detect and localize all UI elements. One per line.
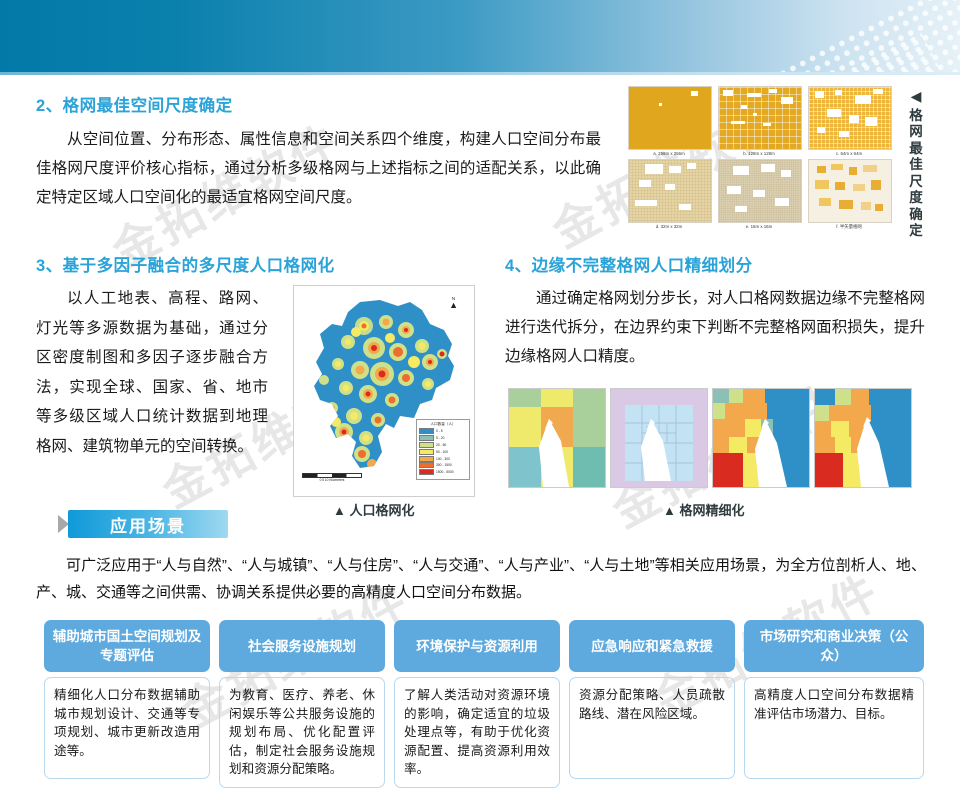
legend-label: 50 - 100 — [436, 450, 448, 454]
application-card[interactable]: 社会服务设施规划 为教育、医疗、养老、休闲娱乐等公共服务设施的规划布局、优化配置… — [219, 620, 385, 788]
legend-swatch — [419, 456, 434, 462]
side-label-char: 格 — [903, 108, 929, 125]
legend-item: 0 - 5 — [419, 428, 467, 434]
grid-thumb-f: f. 半矢量格网 — [808, 159, 890, 233]
legend-item: 50 - 100 — [419, 449, 467, 455]
north-arrow-icon: ▲ — [449, 301, 458, 309]
grid-thumb-a-caption: a. 256m x 256m — [628, 151, 710, 156]
grid-thumb-b: b. 128m x 128m — [718, 86, 800, 159]
legend-item: 300 - 1500 — [419, 462, 467, 468]
application-card[interactable]: 环境保护与资源利用 了解人类活动对资源环境的影响，确定适宜的垃圾处理点等，有助于… — [394, 620, 560, 788]
header-divider — [0, 72, 960, 75]
refinement-panel-2-svg — [611, 389, 707, 487]
grid-thumb-e-image — [718, 159, 802, 223]
grid-thumb-row-2: d. 32m x 32m e. 16m x 16m — [628, 159, 890, 233]
refinement-panel-2 — [610, 388, 708, 488]
grid-thumb-c: c. 64m x 64m — [808, 86, 890, 159]
section-2-paragraph: 从空间位置、分布形态、属性信息和空间关系四个维度，构建人口空间分布最佳格网尺度评… — [36, 125, 601, 212]
legend-item: 1500 - 5000 — [419, 469, 467, 475]
card-body: 了解人类活动对资源环境的影响，确定适宜的垃圾处理点等，有助于优化资源配置、提高资… — [394, 677, 560, 788]
legend-label: 20 - 50 — [436, 443, 446, 447]
map-scalebar: 0 5 10 Kilometers — [302, 473, 362, 482]
legend-swatch — [419, 449, 434, 455]
grid-thumb-b-image — [718, 86, 802, 150]
legend-label: 1500 - 5000 — [436, 470, 454, 474]
side-label-char: 确 — [903, 207, 929, 224]
refinement-panel-4-svg — [815, 389, 911, 487]
refinement-panel-1-svg — [509, 389, 605, 487]
side-label-char: 尺 — [903, 174, 929, 191]
legend-label: 5 - 20 — [436, 436, 444, 440]
application-card-list: 辅助城市国土空间规划及专题评估 精细化人口分布数据辅助城市规划设计、交通等专项规… — [44, 620, 924, 788]
refinement-panel-3 — [712, 388, 810, 488]
grid-thumb-c-image — [808, 86, 892, 150]
legend-label: 0 - 5 — [436, 429, 443, 433]
card-title: 辅助城市国土空间规划及专题评估 — [44, 620, 210, 672]
grid-thumb-e: e. 16m x 16m — [718, 159, 800, 233]
card-title: 社会服务设施规划 — [219, 620, 385, 672]
population-grid-map: N ▲ 人口数量（人） 0 - 5 5 - 20 20 - 50 50 - 10… — [293, 285, 475, 497]
card-body: 为教育、医疗、养老、休闲娱乐等公共服务设施的规划布局、优化配置评估，制定社会服务… — [219, 677, 385, 788]
legend-swatch — [419, 428, 434, 434]
scalebar-bar — [302, 473, 362, 478]
section-4-paragraph: 通过确定格网划分步长，对人口格网数据边缘不完整格网进行迭代拆分，在边界约束下判断… — [505, 284, 925, 371]
section-2-side-label: ◀ 格 网 最 佳 尺 度 确 定 — [903, 88, 929, 240]
grid-thumb-row-1: a. 256m x 256m b. 128m x 128m — [628, 86, 890, 159]
card-title: 市场研究和商业决策（公众） — [744, 620, 924, 672]
grid-thumb-d-image — [628, 159, 712, 223]
application-card[interactable]: 应急响应和紧急救援 资源分配策略、人员疏散路线、潜在风险区域。 — [569, 620, 735, 788]
legend-label: 100 - 300 — [436, 457, 450, 461]
map-legend: 人口数量（人） 0 - 5 5 - 20 20 - 50 50 - 100 10… — [416, 419, 470, 480]
grid-thumb-c-caption: c. 64m x 64m — [808, 151, 890, 156]
application-card[interactable]: 辅助城市国土空间规划及专题评估 精细化人口分布数据辅助城市规划设计、交通等专项规… — [44, 620, 210, 788]
legend-item: 20 - 50 — [419, 442, 467, 448]
grid-thumb-e-caption: e. 16m x 16m — [718, 224, 800, 229]
grid-thumb-f-image — [808, 159, 892, 223]
refinement-panel-4 — [814, 388, 912, 488]
section-3-paragraph: 以人工地表、高程、路网、灯光等多源数据为基础，通过分区密度制图和多因子逐步融合方… — [36, 284, 268, 461]
card-body: 资源分配策略、人员疏散路线、潜在风险区域。 — [569, 677, 735, 779]
section-4-figure-caption: ▲ 格网精细化 — [663, 500, 744, 519]
legend-swatch — [419, 469, 434, 475]
card-body: 精细化人口分布数据辅助城市规划设计、交通等专项规划、城市更新改造用途等。 — [44, 677, 210, 779]
grid-thumb-a: a. 256m x 256m — [628, 86, 710, 159]
legend-label: 300 - 1500 — [436, 463, 452, 467]
refinement-panel-1 — [508, 388, 606, 488]
banner-label: 应用场景 — [68, 510, 228, 538]
grid-scale-thumbnail-gallery: a. 256m x 256m b. 128m x 128m — [628, 86, 890, 233]
north-arrow: N ▲ — [449, 296, 458, 309]
grid-refinement-panel-gallery — [508, 388, 912, 488]
section-3-title: 3、基于多因子融合的多尺度人口格网化 — [36, 252, 335, 276]
section-3-figure-caption: ▲ 人口格网化 — [333, 500, 414, 519]
grid-thumb-f-caption: f. 半矢量格网 — [808, 224, 890, 230]
left-triangle-icon: ◀ — [903, 88, 929, 105]
grid-thumb-b-caption: b. 128m x 128m — [718, 151, 800, 156]
card-body: 高精度人口空间分布数据精准评估市场潜力、目标。 — [744, 677, 924, 779]
refinement-panel-3-svg — [713, 389, 809, 487]
page-header — [0, 0, 960, 72]
grid-thumb-d: d. 32m x 32m — [628, 159, 710, 233]
side-label-char: 佳 — [903, 157, 929, 174]
grid-thumb-a-image — [628, 86, 712, 150]
application-paragraph: 可广泛应用于“人与自然”、“人与城镇”、“人与住房”、“人与交通”、“人与产业”… — [36, 552, 926, 606]
application-card[interactable]: 市场研究和商业决策（公众） 高精度人口空间分布数据精准评估市场潜力、目标。 — [744, 620, 924, 788]
legend-item: 5 - 20 — [419, 435, 467, 441]
legend-item: 100 - 300 — [419, 456, 467, 462]
legend-swatch — [419, 462, 434, 468]
legend-swatch — [419, 435, 434, 441]
scalebar-label: 0 5 10 Kilometers — [302, 478, 362, 482]
card-title: 环境保护与资源利用 — [394, 620, 560, 672]
side-label-char: 定 — [903, 223, 929, 240]
grid-thumb-d-caption: d. 32m x 32m — [628, 224, 710, 229]
card-title: 应急响应和紧急救援 — [569, 620, 735, 672]
legend-title: 人口数量（人） — [419, 422, 467, 427]
application-scenarios-banner: 应用场景 — [58, 510, 228, 538]
side-label-char: 最 — [903, 141, 929, 158]
side-label-char: 网 — [903, 124, 929, 141]
section-4-title: 4、边缘不完整格网人口精细划分 — [505, 252, 753, 276]
legend-swatch — [419, 442, 434, 448]
side-label-char: 度 — [903, 190, 929, 207]
section-2-title: 2、格网最佳空间尺度确定 — [36, 92, 233, 116]
